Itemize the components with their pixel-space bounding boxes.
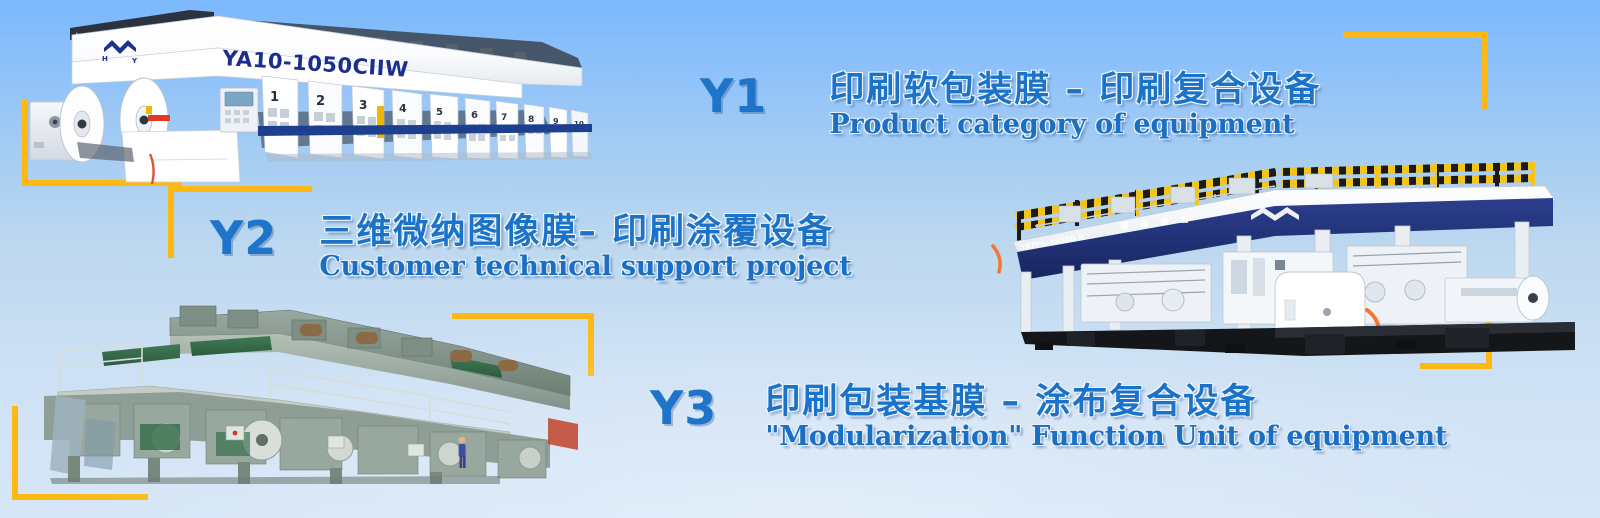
bracket-mid-left-horizontal: [168, 186, 312, 192]
banner-root: H Y YA10-1050CIIW: [0, 0, 1600, 518]
entry-y3-code: Y3: [650, 382, 717, 434]
svg-text:3: 3: [359, 98, 367, 112]
svg-text:8: 8: [528, 115, 534, 125]
svg-text:5: 5: [436, 107, 443, 118]
entry-y2-english: Customer technical support project: [319, 252, 851, 282]
svg-text:7: 7: [501, 113, 507, 123]
entry-y2-code: Y2: [210, 212, 277, 264]
svg-text:2: 2: [316, 94, 325, 109]
svg-text:Y: Y: [131, 57, 138, 65]
machine-gravure-press: H Y YA10-1050CIIW: [22, 2, 602, 182]
machine-base-film-coating-line: [30, 300, 590, 485]
entry-y1: Y1 印刷软包装膜 – 印刷复合设备 Product category of e…: [700, 70, 1321, 140]
entry-y1-code: Y1: [700, 70, 767, 122]
svg-text:1: 1: [270, 90, 279, 105]
bracket-bottom-left-horizontal: [12, 494, 148, 500]
entry-y2-texts: 三维微纳图像膜– 印刷涂覆设备 Customer technical suppo…: [319, 212, 851, 282]
bracket-top-right-vertical: [1482, 32, 1488, 110]
entry-y1-chinese: 印刷软包装膜 – 印刷复合设备: [829, 70, 1321, 110]
entry-y1-texts: 印刷软包装膜 – 印刷复合设备 Product category of equi…: [829, 70, 1321, 140]
entry-y3-english: "Modularization" Function Unit of equipm…: [765, 422, 1447, 452]
svg-text:6: 6: [471, 110, 478, 121]
entry-y3-chinese: 印刷包装基膜 – 涂布复合设备: [765, 382, 1447, 422]
entry-y3-texts: 印刷包装基膜 – 涂布复合设备 "Modularization" Functio…: [765, 382, 1447, 452]
bracket-bottom-left-vertical: [12, 406, 18, 500]
entry-y3: Y3 印刷包装基膜 – 涂布复合设备 "Modularization" Func…: [650, 382, 1447, 452]
bracket-top-right-horizontal: [1343, 32, 1488, 38]
svg-text:4: 4: [399, 102, 407, 115]
bracket-mid-left-vertical: [168, 186, 174, 258]
entry-y1-english: Product category of equipment: [829, 110, 1321, 140]
entry-y2-chinese: 三维微纳图像膜– 印刷涂覆设备: [319, 212, 851, 252]
entry-y2: Y2 三维微纳图像膜– 印刷涂覆设备 Customer technical su…: [210, 212, 852, 282]
machine-coating-laminator: YATFG-1650B II: [975, 160, 1575, 365]
svg-text:H: H: [102, 55, 108, 63]
